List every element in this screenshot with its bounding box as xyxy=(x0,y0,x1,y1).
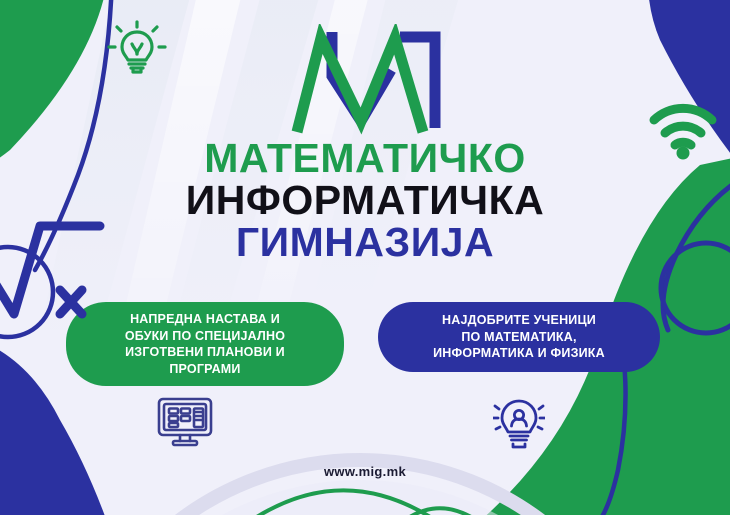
badge-green-line-4: ПРОГРАМИ xyxy=(125,361,285,378)
title-line-1: МАТЕМАТИЧКО xyxy=(0,138,730,179)
wifi-icon xyxy=(648,100,718,160)
poster-root: МАТЕМАТИЧКО ИНФОРМАТИЧКА ГИМНАЗИЈА НАПРЕ… xyxy=(0,0,730,515)
square-root-icon xyxy=(0,218,105,348)
title-line-2: ИНФОРМАТИЧКА xyxy=(0,180,730,221)
desktop-monitor-icon xyxy=(156,396,214,448)
lightbulb-icon xyxy=(106,18,168,80)
badge-green-line-3: ИЗГОТВЕНИ ПЛАНОВИ И xyxy=(125,344,285,361)
badge-navy-line-3: ИНФОРМАТИКА И ФИЗИКА xyxy=(433,345,605,362)
badge-navy-line-1: НАЈДОБРИТЕ УЧЕНИЦИ xyxy=(433,312,605,329)
badge-best-students: НАЈДОБРИТЕ УЧЕНИЦИ ПО МАТЕМАТИКА, ИНФОРМ… xyxy=(378,302,660,372)
badge-navy-line-2: ПО МАТЕМАТИКА, xyxy=(433,329,605,346)
badge-green-line-1: НАПРЕДНА НАСТАВА И xyxy=(125,311,285,328)
badge-green-line-2: ОБУКИ ПО СПЕЦИЈАЛНО xyxy=(125,328,285,345)
website-url: www.mig.mk xyxy=(0,464,730,479)
lightbulb-person-icon xyxy=(493,396,545,452)
badge-advanced-teaching: НАПРЕДНА НАСТАВА И ОБУКИ ПО СПЕЦИЈАЛНО И… xyxy=(66,302,344,386)
mig-monogram-logo xyxy=(283,24,455,136)
page-title: МАТЕМАТИЧКО ИНФОРМАТИЧКА ГИМНАЗИЈА xyxy=(0,138,730,263)
title-line-3: ГИМНАЗИЈА xyxy=(0,222,730,263)
